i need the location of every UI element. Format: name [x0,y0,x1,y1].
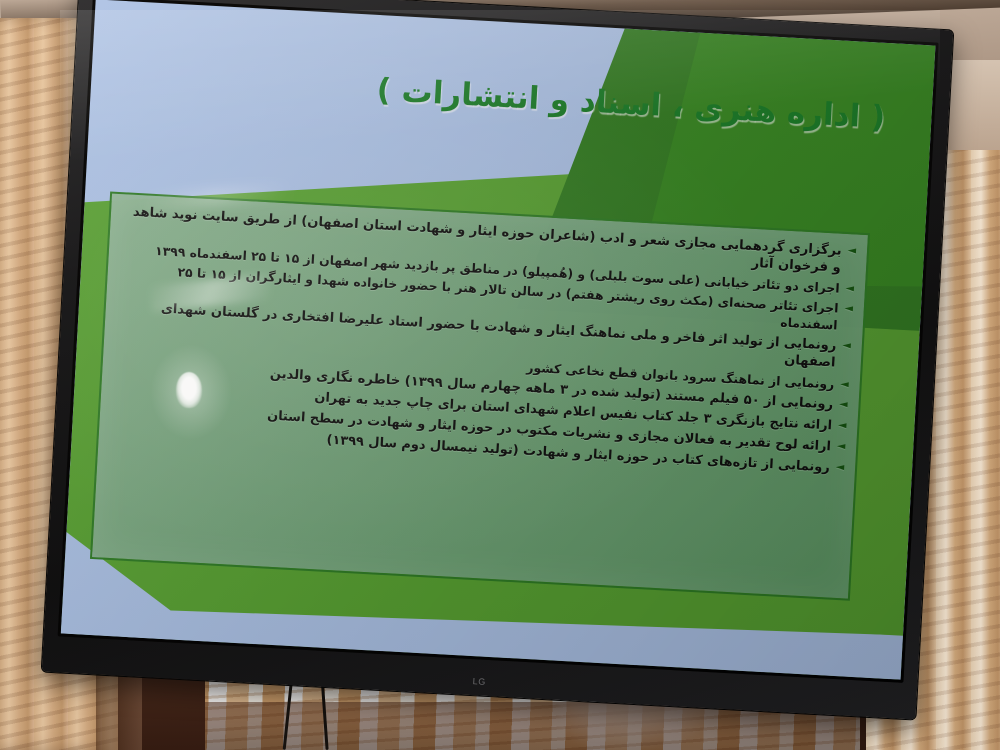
bullet-arrow-icon: ◄ [836,439,845,455]
bullet-arrow-icon: ◄ [839,377,848,393]
tv-brand-logo: LG [472,676,486,687]
bullet-arrow-icon: ◄ [837,418,846,434]
bullet-arrow-icon: ◄ [838,397,847,413]
lamp-reflection [176,372,202,408]
bullet-arrow-icon: ◄ [845,281,854,297]
bullet-arrow-icon: ◄ [844,301,853,317]
presentation-slide: ( اداره هنری ، اسناد و انتشارات ) ◄ برگز… [61,0,936,680]
photo-scene: LG ( اداره هنری ، اسناد و انتشارات ) ◄ ب… [0,0,1000,750]
bullet-arrow-icon: ◄ [842,338,851,354]
bullet-arrow-icon: ◄ [835,460,844,476]
bullet-arrow-icon: ◄ [847,243,856,259]
